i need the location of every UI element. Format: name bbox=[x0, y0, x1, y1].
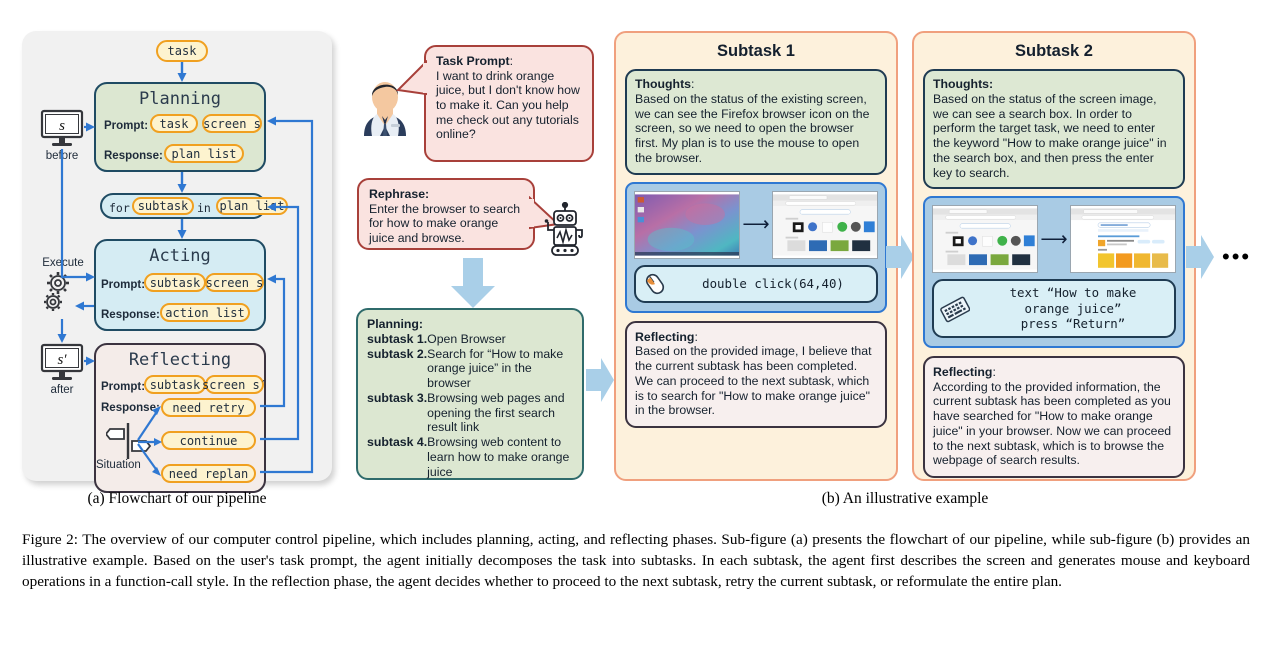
plan-item: subtask 1.Open Browser bbox=[367, 332, 573, 347]
reflecting-prompt-node-screen: screen s′ bbox=[205, 375, 264, 394]
subcaption-b: (b) An illustrative example bbox=[614, 490, 1196, 508]
keyboard-icon bbox=[940, 294, 970, 324]
subtask-panel-2: Subtask 2 Thoughts: Based on the status … bbox=[912, 31, 1196, 481]
subtask-2-title: Subtask 2 bbox=[914, 42, 1194, 61]
loop-for-keyword: for bbox=[109, 201, 130, 215]
svg-text:s: s bbox=[59, 118, 65, 134]
monitor-after-label: after bbox=[36, 384, 88, 396]
arrow-screens-1: ⟶ bbox=[742, 215, 769, 234]
task-prompt-heading: Task Prompt bbox=[436, 54, 510, 68]
node-task: task bbox=[156, 40, 208, 62]
subtask-2-reflecting: Reflecting: According to the provided in… bbox=[923, 356, 1185, 478]
node-task-label: task bbox=[168, 44, 197, 58]
plan-item-text: Search for “How to make orange juice” in… bbox=[427, 347, 573, 391]
monitor-before-icon: s bbox=[40, 109, 84, 149]
planning-response-label: Response: bbox=[104, 150, 163, 162]
subtask-1-reflecting: Reflecting: Based on the provided image,… bbox=[625, 321, 887, 429]
ellipsis-more-subtasks: ••• bbox=[1222, 246, 1251, 268]
planning-title: Planning bbox=[96, 84, 264, 109]
gear-icon bbox=[42, 269, 84, 319]
subtask-1-title: Subtask 1 bbox=[616, 42, 896, 61]
arrow-task-to-planning bbox=[176, 62, 188, 82]
reflecting-title: Reflecting bbox=[96, 345, 264, 370]
rephrase-heading: Rephrase: bbox=[369, 187, 429, 201]
loop-in-keyword: in bbox=[197, 201, 211, 215]
subtask-1-action: double click(64,40) bbox=[634, 265, 878, 303]
task-prompt-bubble: Task Prompt: I want to drink orange juic… bbox=[424, 45, 594, 162]
subtask-2-thoughts-body: Based on the status of the screen image,… bbox=[933, 92, 1167, 180]
subtask-1-reflecting-label: Reflecting bbox=[635, 330, 694, 344]
acting-prompt-node-screen: screen s bbox=[205, 273, 264, 292]
reflecting-response-node-retry: need retry bbox=[161, 398, 256, 417]
execute-label: Execute bbox=[32, 257, 94, 269]
robot-icon bbox=[541, 202, 589, 260]
loop-node: for subtask in plan list bbox=[100, 193, 266, 219]
figure-2: task Planning Prompt: task screen s Resp… bbox=[0, 0, 1269, 515]
acting-title: Acting bbox=[96, 241, 264, 266]
screenshot-desktop-before bbox=[634, 191, 740, 259]
reflecting-prompt-node-subtask: subtask bbox=[144, 375, 206, 394]
plan-item: subtask 4.Browsing web content to learn … bbox=[367, 435, 573, 479]
plan-item-key: subtask 1. bbox=[367, 332, 427, 347]
plan-item-key: subtask 4. bbox=[367, 435, 427, 479]
subtask-2-reflecting-body: According to the provided information, t… bbox=[933, 380, 1171, 468]
figure-caption: Figure 2: The overview of our computer c… bbox=[22, 530, 1250, 593]
subtask-1-action-text: double click(64,40) bbox=[676, 276, 870, 292]
acting-prompt-label: Prompt: bbox=[101, 279, 145, 291]
subtask-2-thoughts-label: Thoughts: bbox=[933, 77, 993, 91]
plan-item-text: Browsing web pages and opening the first… bbox=[427, 391, 573, 435]
plan-item: subtask 3.Browsing web pages and opening… bbox=[367, 391, 573, 435]
phase-acting: Acting Prompt: subtask screen s Response… bbox=[94, 239, 266, 331]
arrow-rephrase-to-planning bbox=[451, 258, 495, 308]
reflecting-response-node-continue: continue bbox=[161, 431, 256, 450]
plan-item-text: Browsing web content to learn how to mak… bbox=[427, 435, 573, 479]
arrow-loop-to-acting bbox=[176, 219, 188, 239]
subtask-2-action-text: text “How to make orange juice” press “R… bbox=[978, 285, 1168, 332]
acting-response-label: Response: bbox=[101, 309, 160, 321]
loop-planlist-node: plan list bbox=[216, 197, 288, 215]
subtask-2-screens: ⟶ bbox=[923, 196, 1185, 348]
screenshot-browser-after bbox=[772, 191, 878, 259]
planning-response-node-planlist: plan list bbox=[164, 144, 244, 163]
arrow-subtask1-to-subtask2 bbox=[886, 235, 914, 279]
arrow-subtask2-to-next bbox=[1186, 235, 1214, 279]
arrow-planning-to-subtask1 bbox=[586, 358, 614, 402]
acting-response-node-actionlist: action list bbox=[160, 303, 250, 322]
planning-prompt-node-task: task bbox=[150, 114, 198, 133]
reflecting-prompt-label: Prompt: bbox=[101, 381, 145, 393]
task-prompt-body: I want to drink orange juice, but I don'… bbox=[436, 69, 583, 142]
flowchart-panel: task Planning Prompt: task screen s Resp… bbox=[22, 31, 332, 481]
mouse-icon bbox=[642, 271, 668, 297]
reflecting-response-node-replan: need replan bbox=[161, 464, 256, 483]
rephrase-bubble: Rephrase: Enter the browser to search fo… bbox=[357, 178, 535, 250]
subtask-2-action: text “How to make orange juice” press “R… bbox=[932, 279, 1176, 338]
plan-item-text: Open Browser bbox=[427, 332, 573, 347]
screenshot-search-results bbox=[1070, 205, 1176, 273]
subtask-2-thoughts: Thoughts: Based on the status of the scr… bbox=[923, 69, 1185, 189]
loop-subtask-node: subtask bbox=[132, 197, 194, 215]
task-prompt-bubble-tail bbox=[396, 60, 430, 110]
monitor-before-label: before bbox=[36, 150, 88, 162]
rephrase-body: Enter the browser to search for how to m… bbox=[369, 202, 524, 246]
planning-prompt-node-screen: screen s bbox=[202, 114, 262, 133]
plan-item-key: subtask 2. bbox=[367, 347, 427, 391]
phase-planning: Planning Prompt: task screen s Response:… bbox=[94, 82, 266, 172]
subcaption-a: (a) Flowchart of our pipeline bbox=[22, 490, 332, 508]
subtask-1-thoughts-body: Based on the status of the existing scre… bbox=[635, 92, 869, 165]
plan-item: subtask 2.Search for “How to make orange… bbox=[367, 347, 573, 391]
subtask-panel-1: Subtask 1 Thoughts: Based on the status … bbox=[614, 31, 898, 481]
subtask-1-thoughts: Thoughts: Based on the status of the exi… bbox=[625, 69, 887, 175]
plan-item-key: subtask 3. bbox=[367, 391, 427, 435]
subtask-1-screens: ⟶ bbox=[625, 182, 887, 313]
monitor-after-icon: s′ bbox=[40, 343, 84, 383]
screenshot-browser-home bbox=[932, 205, 1038, 273]
subtask-1-thoughts-label: Thoughts bbox=[635, 77, 691, 91]
planning-output-heading: Planning: bbox=[367, 317, 573, 332]
svg-text:s′: s′ bbox=[57, 352, 67, 368]
acting-prompt-node-subtask: subtask bbox=[144, 273, 206, 292]
subtask-1-reflecting-body: Based on the provided image, I believe t… bbox=[635, 344, 872, 417]
subtask-2-reflecting-label: Reflecting bbox=[933, 365, 992, 379]
situation-label: Situation bbox=[96, 459, 141, 471]
planning-prompt-label: Prompt: bbox=[104, 120, 148, 132]
arrow-screens-2: ⟶ bbox=[1040, 230, 1067, 249]
arrow-planning-to-loop bbox=[176, 172, 188, 193]
planning-output-box: Planning: subtask 1.Open Browser subtask… bbox=[356, 308, 584, 480]
